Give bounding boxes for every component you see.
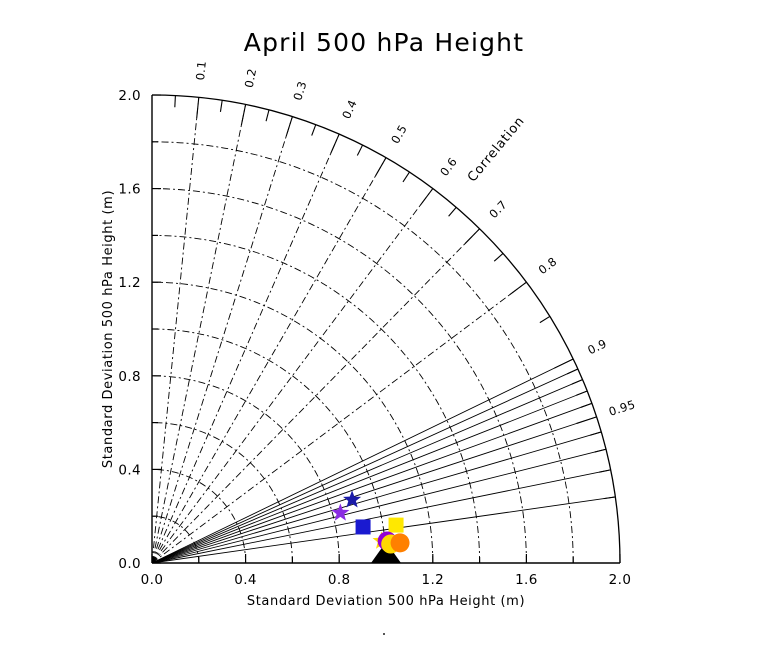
correlation-tick <box>595 449 606 452</box>
marker-blue-square <box>356 519 371 534</box>
correlation-tick <box>576 391 587 395</box>
x-axis-label: Standard Deviation 500 hPa Height (m) <box>247 594 525 609</box>
correlation-tick <box>420 189 433 206</box>
correlation-tick <box>465 229 480 244</box>
taylor-diagram-plot: 0.10.20.30.40.50.60.70.80.90.95Correlati… <box>0 0 768 662</box>
correlation-tick-label: 0.1 <box>193 60 209 81</box>
correlation-tick <box>604 497 616 499</box>
correlation-gridline <box>152 417 597 563</box>
correlation-tick <box>510 282 527 295</box>
correlation-tick <box>241 104 245 125</box>
correlation-tick-label: 0.2 <box>242 67 260 89</box>
outer-arc <box>152 95 620 563</box>
correlation-tick <box>375 158 386 176</box>
y-axis-tick-label: 1.2 <box>118 275 141 291</box>
x-axis-tick-label: 1.6 <box>515 572 538 588</box>
correlation-tick <box>494 253 503 261</box>
marker-orange-circle <box>391 533 410 552</box>
correlation-tick <box>567 369 578 374</box>
correlation-tick-label: 0.95 <box>607 397 637 419</box>
correlation-tick <box>312 125 316 136</box>
std-arc-gridline <box>152 235 480 563</box>
correlation-tick <box>220 100 222 112</box>
x-axis-tick-label: 1.2 <box>421 572 444 588</box>
correlation-tick <box>554 359 573 368</box>
correlation-gridline <box>152 432 601 563</box>
correlation-tick <box>572 380 583 385</box>
correlation-tick-label: 0.7 <box>486 197 510 221</box>
y-axis-tick-label: 0.8 <box>118 369 141 385</box>
correlation-tick <box>581 403 592 407</box>
y-axis-tick-label: 0.0 <box>118 556 141 572</box>
x-axis-tick-label: 0.8 <box>328 572 351 588</box>
correlation-tick-label: 0.3 <box>290 79 309 102</box>
correlation-tick <box>266 110 269 121</box>
std-arc-gridline <box>152 423 292 563</box>
correlation-gridline <box>152 403 592 563</box>
x-axis-tick-label: 0.0 <box>141 572 164 588</box>
grid-layer <box>152 97 615 563</box>
correlation-tick <box>449 207 457 216</box>
y-axis-tick-label: 1.6 <box>118 182 141 198</box>
correlation-axis-label: Correlation <box>465 114 528 185</box>
std-arc-gridline <box>152 142 573 563</box>
correlation-tick <box>197 97 199 118</box>
x-axis-tick-label: 0.4 <box>234 572 257 588</box>
axes-layer <box>152 95 620 563</box>
taylor-diagram-figure: April 500 hPa Height 0.10.20.30.40.50.60… <box>0 0 768 662</box>
correlation-tick <box>403 172 409 182</box>
correlation-tick-label: 0.8 <box>536 254 560 277</box>
y-axis-tick-label: 0.4 <box>118 462 141 478</box>
correlation-tick <box>357 145 362 155</box>
correlation-tick <box>590 432 601 435</box>
correlation-tick <box>599 470 610 472</box>
correlation-tick-label: 0.6 <box>437 155 460 179</box>
std-arc-gridline <box>152 329 386 563</box>
correlation-gridline <box>152 97 199 563</box>
correlation-tick-label: 0.4 <box>339 97 360 120</box>
footer-dot <box>383 633 385 635</box>
correlation-tick-label: 0.9 <box>585 336 609 357</box>
correlation-tick <box>286 117 292 137</box>
std-arc-gridline <box>152 376 339 563</box>
correlation-tick <box>540 316 550 322</box>
x-axis-tick-label: 2.0 <box>609 572 632 588</box>
y-axis-tick-label: 2.0 <box>118 88 141 104</box>
marker-yellow-square <box>389 518 404 533</box>
correlation-gridline <box>152 391 587 563</box>
correlation-tick <box>175 96 176 108</box>
correlation-tick-label: 0.5 <box>388 122 410 146</box>
correlation-tick <box>577 417 597 424</box>
y-axis-label: Standard Deviation 500 hPa Height (m) <box>101 190 116 468</box>
correlation-tick <box>331 134 339 153</box>
